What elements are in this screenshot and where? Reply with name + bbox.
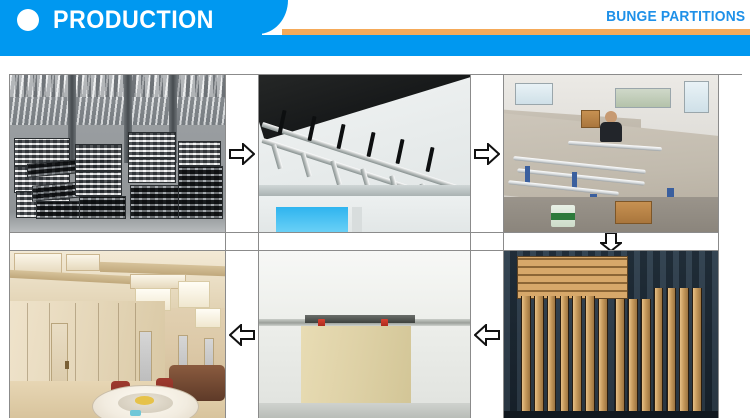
page-title: PRODUCTION	[53, 8, 214, 33]
arrow-left-icon	[229, 324, 255, 346]
workflow-arrow-3	[504, 233, 719, 251]
production-page: PRODUCTION BUNGE PARTITIONS	[0, 0, 750, 418]
arrow-left-icon	[474, 324, 500, 346]
workflow-arrow-2	[471, 75, 504, 233]
page-header: PRODUCTION BUNGE PARTITIONS	[0, 0, 750, 56]
banquet-hall-finished-partition-photo	[10, 251, 225, 418]
gap-cell-3	[259, 233, 471, 251]
header-title-group: PRODUCTION	[0, 0, 226, 40]
workflow-step-2	[259, 75, 471, 233]
gap-cell-4	[471, 233, 504, 251]
panel-hung-on-track-photo	[259, 251, 470, 418]
workflow-step-5	[259, 251, 471, 418]
workflow-arrow-1	[226, 75, 259, 233]
workshop-panel-assembly-photo	[504, 75, 718, 232]
arrow-down-icon	[600, 233, 622, 251]
ceiling-track-installation-photo	[259, 75, 470, 232]
arrow-right-icon	[229, 143, 255, 165]
production-workflow-grid	[9, 74, 742, 418]
brand-name: BUNGE PARTITIONS	[606, 8, 745, 25]
workflow-step-1	[10, 75, 226, 233]
workflow-step-4	[504, 251, 719, 418]
gap-cell-1	[10, 233, 226, 251]
gap-cell-2	[226, 233, 259, 251]
workflow-step-6	[10, 251, 226, 418]
workflow-arrow-5	[226, 251, 259, 418]
circle-bullet-icon	[17, 9, 39, 31]
workflow-step-3	[504, 75, 719, 233]
arrow-right-icon	[474, 143, 500, 165]
warehouse-aluminium-profiles-photo	[10, 75, 225, 232]
container-wooden-crate-packing-photo	[504, 251, 718, 418]
workflow-arrow-4	[471, 251, 504, 418]
